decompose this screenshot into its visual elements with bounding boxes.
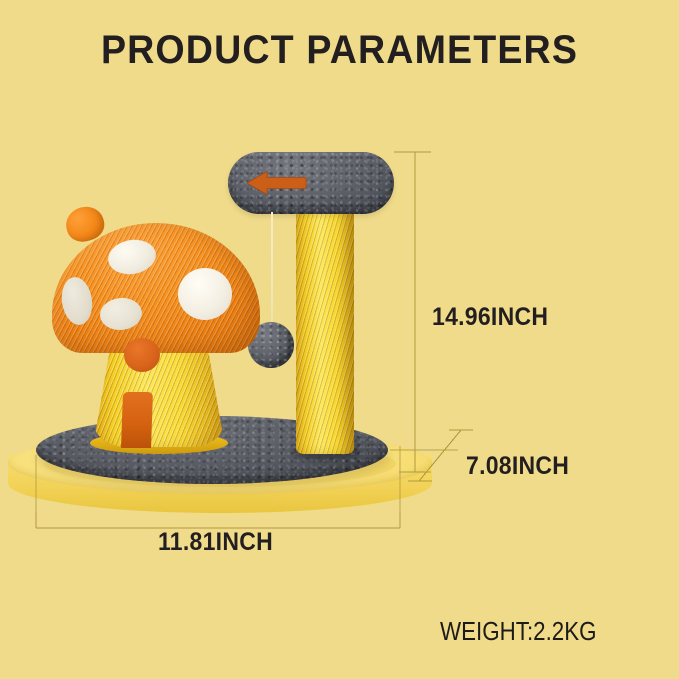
- width-dimension-label: 11.81INCH: [158, 528, 273, 557]
- scratching-post: [296, 196, 354, 454]
- mushroom-stem-door-accent: [121, 392, 153, 448]
- product-illustration: [0, 0, 679, 679]
- weight-label: WEIGHT:2.2KG: [440, 616, 597, 647]
- height-dimension-label: 14.96INCH: [432, 303, 548, 332]
- mushroom-stem-dot-accent: [124, 338, 160, 372]
- product-parameters-infographic: PRODUCT PARAMETERS: [0, 0, 679, 679]
- left-arrow-icon: [246, 170, 308, 196]
- depth-dimension-label: 7.08INCH: [466, 452, 569, 481]
- mushroom-cap-spot: [178, 268, 232, 320]
- toy-string: [271, 212, 273, 325]
